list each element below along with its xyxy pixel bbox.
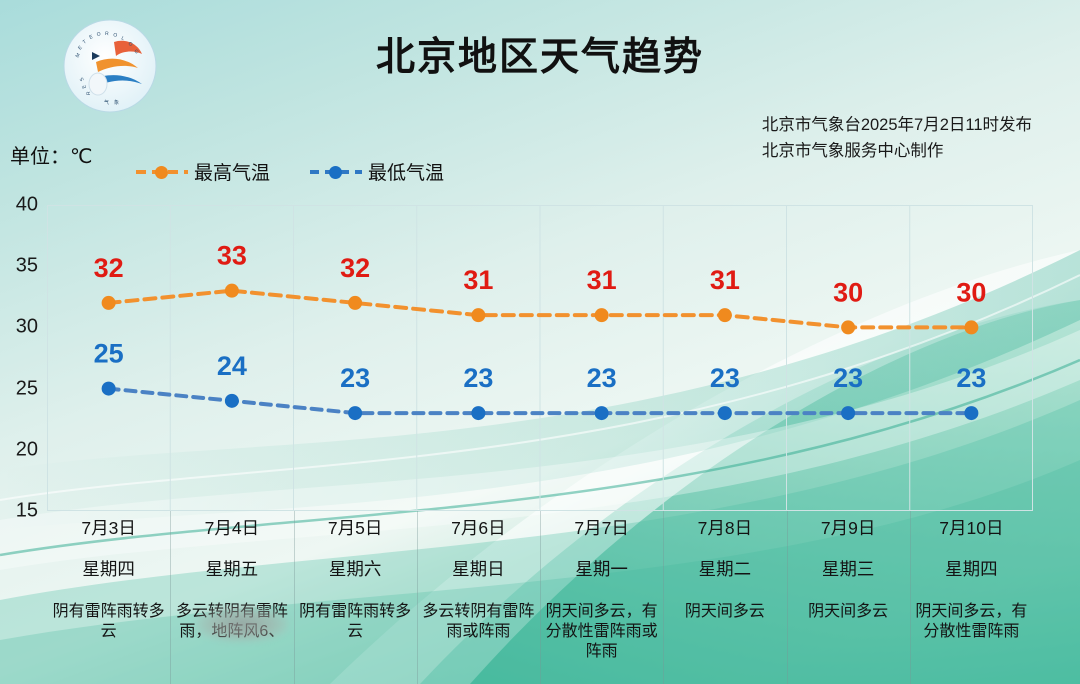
forecast-column: 7月3日星期四阴有雷阵雨转多云 [47, 511, 170, 684]
value-label-high: 31 [463, 265, 493, 295]
forecast-date: 7月8日 [663, 519, 786, 538]
column-divider [787, 511, 788, 684]
forecast-column: 7月5日星期六阴有雷阵雨转多云 [294, 511, 417, 684]
forecast-date: 7月9日 [787, 519, 910, 538]
forecast-date: 7月6日 [417, 519, 540, 538]
blur-artifact [196, 606, 288, 642]
y-axis-tick-label: 35 [16, 255, 38, 278]
forecast-date: 7月7日 [540, 519, 663, 538]
data-point-low [841, 406, 855, 420]
data-point-low [225, 394, 239, 408]
publisher-line-1: 北京市气象台2025年7月2日11时发布 [762, 113, 1032, 139]
legend-high-marker-icon [136, 165, 188, 179]
y-axis-tick-label: 25 [16, 377, 38, 400]
forecast-column: 7月7日星期一阴天间多云，有分散性雷阵雨或阵雨 [540, 511, 663, 684]
data-point-high [964, 320, 978, 334]
svg-text:气: 气 [104, 99, 109, 106]
data-point-low [964, 406, 978, 420]
page-title: 北京地区天气趋势 [0, 26, 1080, 82]
value-label-low: 23 [833, 363, 863, 393]
data-point-low [348, 406, 362, 420]
column-divider [663, 511, 664, 684]
data-point-high [718, 308, 732, 322]
data-point-high [595, 308, 609, 322]
forecast-column: 7月10日星期四阴天间多云，有分散性雷阵雨 [910, 511, 1033, 684]
value-label-low: 23 [587, 363, 617, 393]
data-point-low [595, 406, 609, 420]
forecast-column: 7月8日星期二阴天间多云 [663, 511, 786, 684]
value-label-high: 33 [217, 241, 247, 271]
legend-low-marker-icon [310, 165, 362, 179]
forecast-weekday: 星期五 [170, 560, 293, 579]
unit-label: 单位：℃ [10, 140, 92, 169]
forecast-column: 7月6日星期日多云转阴有雷阵雨或阵雨 [417, 511, 540, 684]
value-label-high: 32 [94, 253, 124, 283]
value-label-high: 31 [710, 265, 740, 295]
legend-item-low: 最低气温 [310, 158, 444, 185]
value-label-high: 31 [587, 265, 617, 295]
y-axis-tick-label: 40 [16, 194, 38, 217]
forecast-description: 阴有雷阵雨转多云 [294, 602, 417, 642]
column-divider [170, 511, 171, 684]
forecast-description: 阴有雷阵雨转多云 [47, 602, 170, 642]
svg-text:象: 象 [114, 99, 119, 106]
forecast-description: 阴天间多云，有分散性雷阵雨或阵雨 [540, 602, 663, 662]
y-axis-tick-label: 15 [16, 500, 38, 523]
publisher-line-2: 北京市气象服务中心制作 [762, 139, 1032, 165]
forecast-description: 阴天间多云 [663, 602, 786, 622]
value-label-high: 30 [956, 277, 986, 307]
forecast-column: 7月9日星期三阴天间多云 [787, 511, 910, 684]
data-point-low [718, 406, 732, 420]
forecast-weekday: 星期一 [540, 560, 663, 579]
data-point-low [102, 382, 116, 396]
temperature-chart-plot: 32333231313130302524232323232323 [47, 205, 1033, 511]
value-label-high: 30 [833, 277, 863, 307]
forecast-description: 阴天间多云 [787, 602, 910, 622]
value-label-low: 23 [340, 363, 370, 393]
forecast-date: 7月4日 [170, 519, 293, 538]
publisher-info: 北京市气象台2025年7月2日11时发布 北京市气象服务中心制作 [762, 113, 1032, 164]
value-label-low: 25 [94, 339, 124, 369]
data-point-high [471, 308, 485, 322]
value-label-low: 23 [956, 363, 986, 393]
column-divider [910, 511, 911, 684]
column-divider [294, 511, 295, 684]
value-label-low: 24 [217, 351, 247, 381]
value-label-low: 23 [463, 363, 493, 393]
forecast-weekday: 星期二 [663, 560, 786, 579]
forecast-weekday: 星期四 [47, 560, 170, 579]
chart-legend: 最高气温 最低气温 [136, 158, 444, 185]
forecast-weekday: 星期三 [787, 560, 910, 579]
value-label-low: 23 [710, 363, 740, 393]
data-point-high [348, 296, 362, 310]
data-point-high [841, 320, 855, 334]
value-label-high: 32 [340, 253, 370, 283]
data-point-low [471, 406, 485, 420]
legend-label-high: 最高气温 [194, 158, 270, 185]
forecast-description: 阴天间多云，有分散性雷阵雨 [910, 602, 1033, 642]
column-divider [417, 511, 418, 684]
data-point-high [225, 284, 239, 298]
forecast-date: 7月5日 [294, 519, 417, 538]
forecast-date: 7月3日 [47, 519, 170, 538]
forecast-description: 多云转阴有雷阵雨或阵雨 [417, 602, 540, 642]
forecast-weekday: 星期四 [910, 560, 1033, 579]
forecast-column: 7月4日星期五多云转阴有雷阵雨，地阵风6、 [170, 511, 293, 684]
legend-label-low: 最低气温 [368, 158, 444, 185]
forecast-weekday: 星期日 [417, 560, 540, 579]
y-axis-tick-label: 30 [16, 316, 38, 339]
legend-item-high: 最高气温 [136, 158, 270, 185]
y-axis: 403530252015 [0, 195, 44, 525]
y-axis-tick-label: 20 [16, 438, 38, 461]
column-divider [540, 511, 541, 684]
svg-text:R: R [86, 91, 92, 95]
forecast-columns: 7月3日星期四阴有雷阵雨转多云7月4日星期五多云转阴有雷阵雨，地阵风6、7月5日… [47, 511, 1033, 684]
forecast-date: 7月10日 [910, 519, 1033, 538]
data-point-high [102, 296, 116, 310]
forecast-weekday: 星期六 [294, 560, 417, 579]
